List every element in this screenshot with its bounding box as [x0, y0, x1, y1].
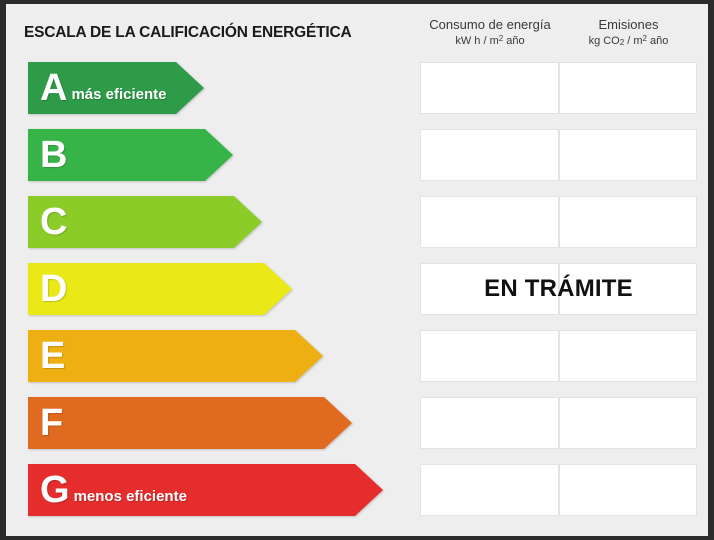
unit-mid: / m	[624, 35, 642, 47]
rating-note-a: más eficiente	[71, 86, 166, 103]
value-cell-f-consumo	[420, 397, 559, 449]
rating-bar-d: D	[28, 263, 292, 315]
rating-note-g: menos eficiente	[74, 488, 187, 505]
value-row-a	[420, 62, 697, 114]
rating-arrow-shape-e	[28, 330, 323, 382]
rating-bar-a: Amás eficiente	[28, 62, 204, 114]
column-header-emisiones-label: Emisiones	[560, 16, 697, 34]
rating-letter-f: F	[40, 404, 63, 442]
value-cell-c-emisiones	[559, 196, 697, 248]
value-cell-e-emisiones	[559, 330, 697, 382]
unit-suffix: año	[503, 35, 524, 47]
value-cell-g-consumo	[420, 464, 559, 516]
column-header-emisiones-unit: kg CO2 / m2 año	[560, 34, 697, 49]
column-header-consumo: Consumo de energía kW h / m2 año	[420, 16, 560, 48]
value-row-d: EN TRÁMITE	[420, 263, 697, 315]
rating-arrow-shape-f	[28, 397, 352, 449]
rating-letter-a: A	[40, 69, 67, 107]
rating-letter-e: E	[40, 337, 65, 375]
value-row-f	[420, 397, 697, 449]
rating-bar-c: C	[28, 196, 262, 248]
value-cell-e-consumo	[420, 330, 559, 382]
energy-rating-certificate: ESCALA DE LA CALIFICACIÓN ENERGÉTICA Con…	[6, 4, 708, 536]
column-header-consumo-label: Consumo de energía	[420, 16, 560, 34]
unit-text: kg CO	[589, 35, 620, 47]
value-cell-c-consumo	[420, 196, 559, 248]
rating-arrow-shape-d	[28, 263, 292, 315]
rating-letter-d: D	[40, 270, 67, 308]
rating-letter-b: B	[40, 136, 67, 174]
page-title: ESCALA DE LA CALIFICACIÓN ENERGÉTICA	[24, 24, 352, 42]
value-cell-a-consumo	[420, 62, 559, 114]
value-cell-grid: EN TRÁMITE	[420, 62, 697, 517]
value-cell-g-emisiones	[559, 464, 697, 516]
unit-text: kW h / m	[455, 35, 498, 47]
value-row-b	[420, 129, 697, 181]
value-cell-d-emisiones	[559, 263, 697, 315]
value-cell-a-emisiones	[559, 62, 697, 114]
value-row-e	[420, 330, 697, 382]
rating-letter-g: G	[40, 471, 70, 509]
rating-letter-c: C	[40, 203, 67, 241]
value-cell-b-emisiones	[559, 129, 697, 181]
rating-bar-g: Gmenos eficiente	[28, 464, 383, 516]
value-row-c	[420, 196, 697, 248]
value-cell-f-emisiones	[559, 397, 697, 449]
column-header-consumo-unit: kW h / m2 año	[420, 34, 560, 49]
rating-bar-e: E	[28, 330, 323, 382]
frame-edge-right	[708, 0, 714, 540]
unit-suffix: año	[647, 35, 668, 47]
value-cell-b-consumo	[420, 129, 559, 181]
rating-bar-f: F	[28, 397, 352, 449]
rating-bar-b: B	[28, 129, 233, 181]
value-row-g	[420, 464, 697, 516]
value-cell-d-consumo	[420, 263, 559, 315]
column-header-emisiones: Emisiones kg CO2 / m2 año	[560, 16, 697, 48]
